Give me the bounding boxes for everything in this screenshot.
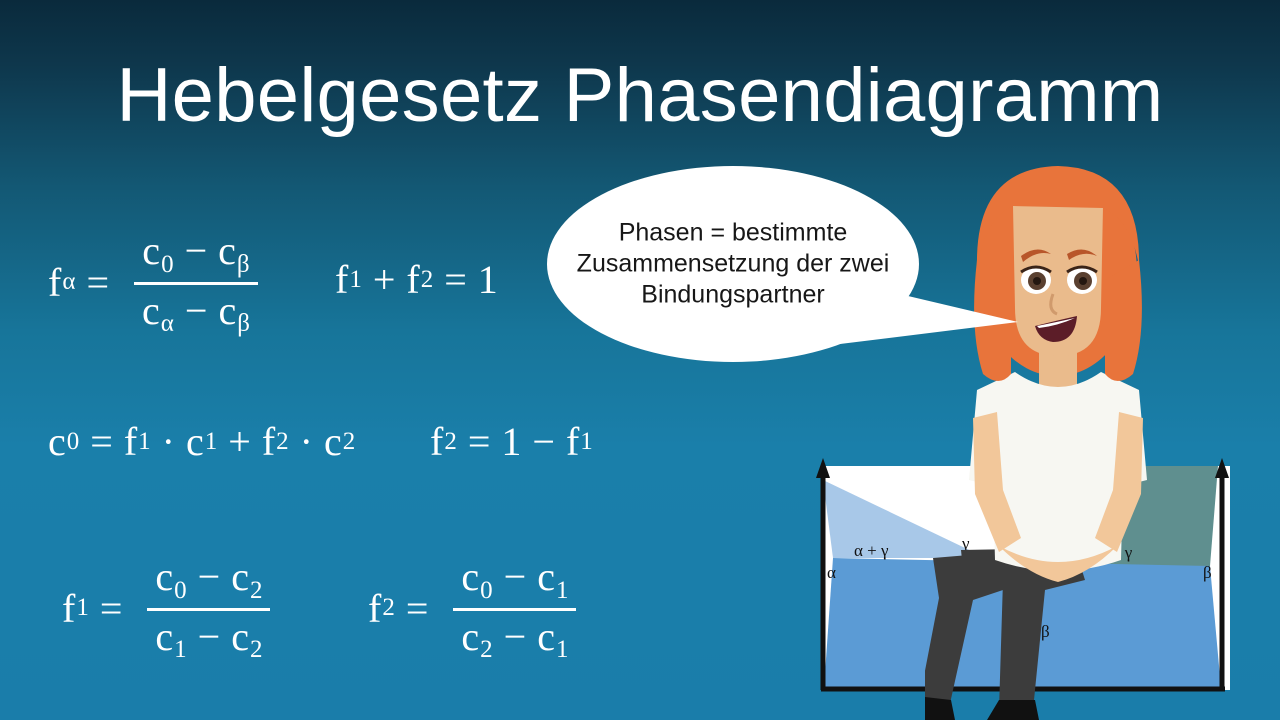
formula-f-alpha-equals: = xyxy=(75,259,120,306)
den-term-b: c xyxy=(231,614,249,659)
num-term-a: c xyxy=(142,228,160,273)
num-term-b: c xyxy=(537,554,555,599)
formula-f-alpha-fraction: c0−cβ cα−cβ xyxy=(134,229,258,337)
f-sum-equals: = xyxy=(433,256,478,303)
fraction-bar xyxy=(147,608,270,611)
num-term-a-sub: 0 xyxy=(479,577,493,604)
fraction-bar xyxy=(134,282,258,285)
formula-f-alpha: fα = c0−cβ cα−cβ xyxy=(48,228,258,336)
c-zero-t1a-sub: 1 xyxy=(137,428,151,456)
fraction-bar xyxy=(453,608,576,611)
f2-eq-rhs-sub: 1 xyxy=(579,428,593,456)
f-sum-plus: + xyxy=(362,256,407,303)
f-sum-b-sub: 2 xyxy=(420,266,434,294)
formula-f-two-fraction: c0−c1 c2−c1 xyxy=(453,555,576,663)
num-term-a-sub: 0 xyxy=(160,251,174,278)
den-op: − xyxy=(174,288,219,333)
f-sum-a-sub: 1 xyxy=(348,266,362,294)
num-term-b-sub: β xyxy=(236,251,250,278)
num-term-a: c xyxy=(461,554,479,599)
phase-label-alpha: α xyxy=(827,563,836,583)
den-term-b-sub: 2 xyxy=(249,636,263,663)
c-zero-plus: + xyxy=(217,418,262,465)
c-zero-t2a: f xyxy=(262,418,275,465)
formula-f-one-fraction: c0−c2 c1−c2 xyxy=(147,555,270,663)
formula-f2-equals: f2 = 1 − f1 xyxy=(430,418,593,465)
num-op: − xyxy=(174,228,219,273)
formula-f-one-numerator: c0−c2 xyxy=(147,555,270,604)
num-term-b: c xyxy=(218,228,236,273)
speech-bubble-tail xyxy=(840,278,1020,348)
c-zero-dot2: · xyxy=(289,418,324,465)
formula-f-alpha-numerator: c0−cβ xyxy=(134,229,257,278)
num-term-a-sub: 0 xyxy=(173,577,187,604)
f-sum-a: f xyxy=(335,256,348,303)
den-term-a-sub: 1 xyxy=(173,636,187,663)
c-zero-t1b: c xyxy=(186,418,204,465)
num-term-a: c xyxy=(155,554,173,599)
speech-tail-shape xyxy=(840,280,1018,344)
formula-f-two-numerator: c0−c1 xyxy=(453,555,576,604)
f2-eq-lhs-sub: 2 xyxy=(443,428,457,456)
den-term-a-sub: 2 xyxy=(479,636,493,663)
num-term-b: c xyxy=(231,554,249,599)
formula-f-one-lhs: f xyxy=(62,585,75,632)
slide-canvas: Hebelgesetz Phasendiagramm fα = c0−cβ cα… xyxy=(0,0,1280,720)
left-eye-pupil xyxy=(1033,277,1041,285)
character-right-shoe xyxy=(987,700,1039,720)
c-zero-equals: = xyxy=(79,418,124,465)
den-term-b: c xyxy=(218,288,236,333)
formula-f-two-denominator: c2−c1 xyxy=(453,615,576,664)
f-sum-b: f xyxy=(406,256,419,303)
c-zero-dot1: · xyxy=(151,418,186,465)
right-eye-pupil xyxy=(1079,277,1087,285)
phase-label-alpha-gamma: α + γ xyxy=(854,541,889,561)
f-sum-result: 1 xyxy=(478,256,498,303)
c-zero-lhs-sub: 0 xyxy=(66,428,80,456)
num-op: − xyxy=(187,554,232,599)
formula-f-alpha-lhs-sub: α xyxy=(61,268,75,296)
den-op: − xyxy=(493,614,538,659)
num-term-b-sub: 1 xyxy=(555,577,569,604)
den-term-b-sub: 1 xyxy=(555,636,569,663)
num-term-b-sub: 2 xyxy=(249,577,263,604)
den-term-a-sub: α xyxy=(160,310,174,337)
den-term-b: c xyxy=(537,614,555,659)
character-illustration xyxy=(925,160,1200,720)
formula-f-one-equals: = xyxy=(89,585,134,632)
formula-c-zero: c0 = f1 · c1 + f2 · c2 xyxy=(48,418,355,465)
c-zero-t2b-sub: 2 xyxy=(342,428,356,456)
f2-eq-rhs: f xyxy=(566,418,579,465)
formula-f-one-denominator: c1−c2 xyxy=(147,615,270,664)
formula-f-two-lhs: f xyxy=(368,585,381,632)
character-left-leg xyxy=(925,552,1005,708)
c-zero-t2b: c xyxy=(324,418,342,465)
den-term-a: c xyxy=(155,614,173,659)
formula-f-sum: f1 + f2 = 1 xyxy=(335,256,498,303)
f2-eq-equals: = xyxy=(457,418,502,465)
page-title: Hebelgesetz Phasendiagramm xyxy=(0,52,1280,140)
c-zero-t1a: f xyxy=(124,418,137,465)
formula-f-one-lhs-sub: 1 xyxy=(75,594,89,622)
f2-eq-one: 1 xyxy=(501,418,521,465)
f2-eq-minus: − xyxy=(521,418,566,465)
hair-right-side xyxy=(1105,260,1142,381)
den-term-a: c xyxy=(142,288,160,333)
c-zero-lhs: c xyxy=(48,418,66,465)
c-zero-t1b-sub: 1 xyxy=(204,428,218,456)
formula-f-alpha-lhs: f xyxy=(48,259,61,306)
num-op: − xyxy=(493,554,538,599)
den-term-a: c xyxy=(461,614,479,659)
den-op: − xyxy=(187,614,232,659)
formula-f-two: f2 = c0−c1 c2−c1 xyxy=(368,554,576,662)
phase-label-beta: β xyxy=(1203,563,1212,583)
formula-f-alpha-denominator: cα−cβ xyxy=(134,289,258,338)
formula-f-one: f1 = c0−c2 c1−c2 xyxy=(62,554,270,662)
f2-eq-lhs: f xyxy=(430,418,443,465)
formula-f-two-equals: = xyxy=(395,585,440,632)
formula-f-two-lhs-sub: 2 xyxy=(381,594,395,622)
c-zero-t2a-sub: 2 xyxy=(275,428,289,456)
den-term-b-sub: β xyxy=(236,310,250,337)
